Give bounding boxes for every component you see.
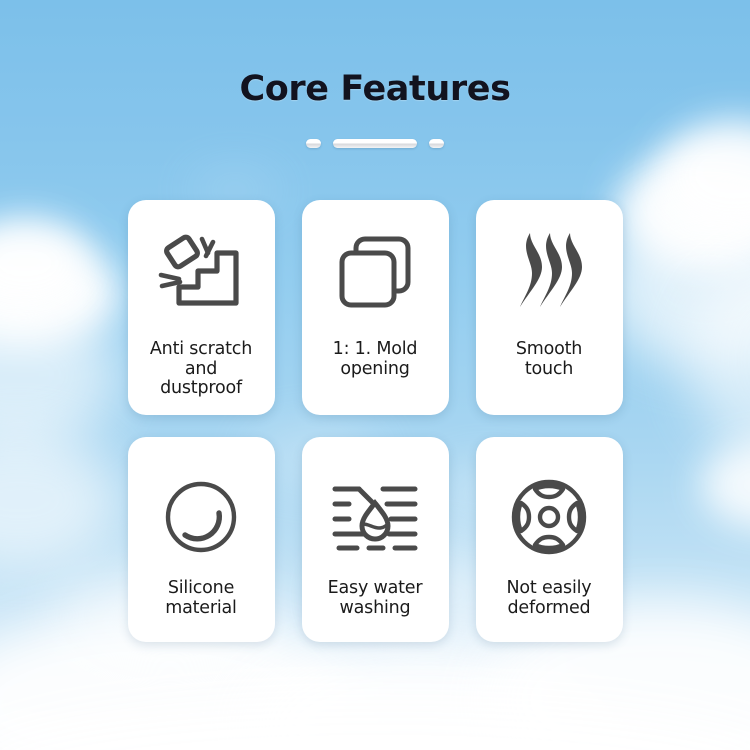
divider-bar-center: [333, 139, 417, 148]
feature-card-smooth-touch[interactable]: Smooth touch: [476, 200, 623, 415]
water-drop-lines-icon: [329, 467, 421, 567]
feature-card-grid: Anti scratch and dustproof 1: 1. Mold op…: [0, 200, 750, 642]
stairs-impact-icon: [157, 222, 245, 318]
feature-card-row: Silicone material: [0, 437, 750, 642]
feature-card-label: Anti scratch and dustproof: [122, 340, 281, 399]
wheel-icon: [509, 467, 589, 567]
feature-card-row: Anti scratch and dustproof 1: 1. Mold op…: [0, 200, 750, 415]
feature-card-label: Not easily deformed: [470, 579, 629, 618]
divider-dash-left: [306, 139, 321, 148]
feature-card-label: Silicone material: [122, 579, 281, 618]
feature-card-mold-opening[interactable]: 1: 1. Mold opening: [302, 200, 449, 415]
feature-card-easy-water-washing[interactable]: Easy water washing: [302, 437, 449, 642]
feature-card-label: Smooth touch: [470, 340, 629, 379]
page-title: Core Features: [0, 0, 750, 107]
title-divider: [0, 139, 750, 148]
header: Core Features: [0, 0, 750, 148]
divider-dash-right: [429, 139, 444, 148]
feature-card-label: Easy water washing: [296, 579, 455, 618]
circle-arc-icon: [163, 467, 239, 567]
feature-card-silicone-material[interactable]: Silicone material: [128, 437, 275, 642]
feature-card-label: 1: 1. Mold opening: [296, 340, 455, 379]
feature-card-anti-scratch[interactable]: Anti scratch and dustproof: [128, 200, 275, 415]
waves-icon: [516, 222, 582, 318]
copy-squares-icon: [334, 222, 416, 318]
feature-card-not-easily-deformed[interactable]: Not easily deformed: [476, 437, 623, 642]
